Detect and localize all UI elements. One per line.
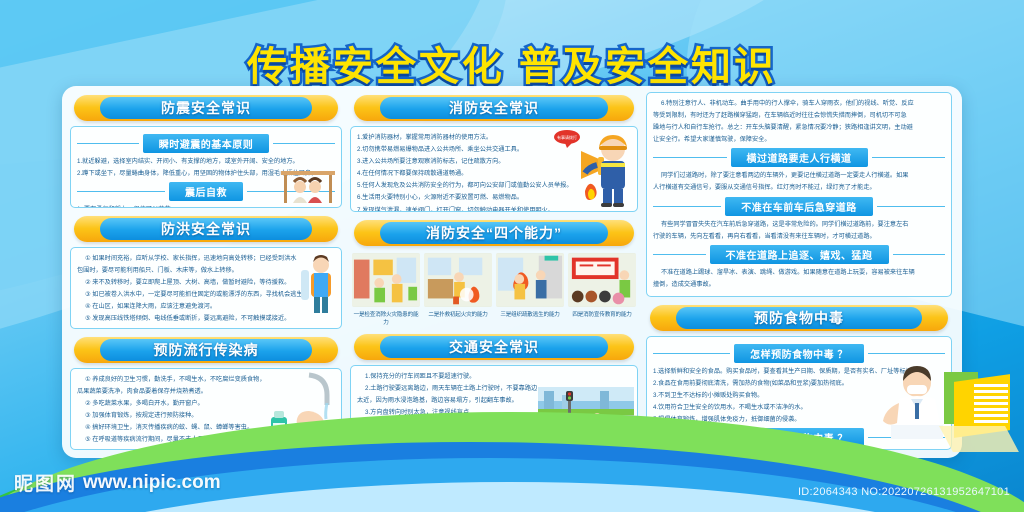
list-item: 同学们过道路时，除了要注意看两边的车辆外，更要记住横过道路一定要走人行横道。如果 xyxy=(653,170,945,182)
subheader-label: 不准在道路上追逐、嬉戏、猛跑 xyxy=(710,245,889,264)
ability-panel-4: 四是消防宣传教育的能力 xyxy=(568,253,636,326)
list-item: ④ 在山区，如果连降大雨，应该注意避免渡河。 xyxy=(77,301,335,313)
list-item: 2.切勿携带易燃易爆物品进入公共场所、乘坐公共交通工具。 xyxy=(357,144,631,156)
list-item: 不准在道路上踢球、溜旱冰、表演、跳绳、做游戏。如果随意在道路上玩耍，容易被来往车… xyxy=(653,267,945,279)
subheader-quake-principles: 瞬时避震的基本原则 xyxy=(77,134,335,153)
list-item: 2.食品在食用前要彻底清洗，需加热的食物(如菜品和豆浆)要加热彻底。 xyxy=(653,378,945,390)
section-header-four-abilities: 消防安全“四个能力” xyxy=(354,220,634,246)
subheader-use-crosswalk: 横过道路要走人行横道 xyxy=(653,148,945,167)
watermark: 昵图网 www.nipic.com xyxy=(14,469,221,496)
subheader-label: 怎样预防食物中毒 ？ xyxy=(734,344,864,363)
section-header-fire: 消防安全常识 xyxy=(354,95,634,121)
corner-decoration xyxy=(938,372,1016,454)
list-item: 人行横道有交通信号，要服从交通信号指挥。红灯亮时不能过，绿灯亮了才能走。 xyxy=(653,182,945,194)
card-quake: 瞬时避震的基本原则 1.就近躲避，选择室内结实、开间小、有支撑的地方，或室外开阔… xyxy=(70,126,342,208)
watermark-brand-cn: 昵图网 xyxy=(14,469,77,496)
subheader-label: 瞬时避震的基本原则 xyxy=(143,134,270,153)
list-item: 6.特别注意行人、非机动车。曲手用中的行人撑伞，骑车人穿雨衣，他们的视线、听觉、… xyxy=(653,98,945,110)
rule-line xyxy=(877,206,945,207)
list-item: 撞倒，造成交通事故。 xyxy=(653,279,945,291)
rule-line xyxy=(247,191,335,192)
subheader-label: 不准在车前车后急穿道路 xyxy=(725,197,873,216)
fire-list: 1.爱护消防器材，掌握常用消防器材的使用方法。 2.切勿携带易燃易爆物品进入公共… xyxy=(357,132,631,212)
list-item: ① 养成良好的卫生习惯，勤洗手，不喝生水，不吃腐烂变质食物， xyxy=(77,374,335,386)
corner-striped-shape xyxy=(974,384,1008,426)
list-item: 1.保持充分的行车间距且不要超速行驶。 xyxy=(357,371,631,383)
list-item: ① 如果时间充裕，应听从学校、家长指挥，迅速地向高处转移；已经受到洪水 xyxy=(77,253,335,265)
list-item: 4.在任何情况下都要保持疏散通道畅通。 xyxy=(357,168,631,180)
list-item: 6.生活用火要特别小心，火源附近不要放置可燃、易燃物品。 xyxy=(357,192,631,204)
section-header-quake: 防震安全常识 xyxy=(74,95,338,121)
subheader-label: 横过道路要走人行横道 xyxy=(731,148,868,167)
rule-line xyxy=(653,353,730,354)
list-item: 1.爱护消防器材，掌握常用消防器材的使用方法。 xyxy=(357,132,631,144)
section-title-traffic: 交通安全常识 xyxy=(449,337,539,357)
four-abilities-panels: 一是检查消除火灾隐患的能力 二是扑救初起火 xyxy=(350,251,638,326)
ability-caption: 三是组织疏散逃生的能力 xyxy=(496,310,564,318)
crosswalk-list: 同学们过道路时，除了要注意看两边的车辆外，更要记住横过道路一定要走人行横道。如果… xyxy=(653,170,945,194)
section-header-traffic: 交通安全常识 xyxy=(354,334,634,360)
rule-line xyxy=(893,254,946,255)
section-title-epidemic: 预防流行传染病 xyxy=(154,340,259,360)
subheader-quake-selfrescue: 震后自救 xyxy=(77,182,335,201)
list-item: 等受到限制，有时还为了赶路横穿猛跑，在车辆临近时往往会惊慌失措而摔倒，司机切不可… xyxy=(653,110,945,122)
section-title-flood: 防洪安全常识 xyxy=(161,219,251,239)
rule-line xyxy=(868,353,945,354)
section-title-food: 预防食物中毒 xyxy=(754,308,844,328)
watermark-url: www.nipic.com xyxy=(83,472,221,494)
list-item: 有些同学冒冒失失在汽车前后急穿道路，这是非常危险的。同学们横过道路前，要注意左右 xyxy=(653,219,945,231)
traffic-cont-intro: 6.特别注意行人、非机动车。曲手用中的行人撑伞，骑车人穿雨衣，他们的视线、听觉、… xyxy=(653,98,945,146)
list-item: 包围时，要尽可能利用船只、门板、木床等，做水上转移。 xyxy=(77,265,335,277)
subheader-no-play-on-road: 不准在道路上追逐、嬉戏、猛跑 xyxy=(653,245,945,264)
ability-panel-1: 一是检查消除火灾隐患的能力 xyxy=(352,253,420,326)
list-item: ③ 如已被卷入洪水中，一定要尽可能抓住固定的或能漂浮的东西，寻找机会逃生。 xyxy=(77,289,335,301)
list-item: 1.就近躲避，选择室内结实、开间小、有支撑的地方，或室外开阔、安全的地方。 xyxy=(77,156,335,168)
card-flood: ① 如果时间充裕，应听从学校、家长指挥，迅速地向高处转移；已经受到洪水 包围时，… xyxy=(70,247,342,329)
quake-principles-list: 1.就近躲避，选择室内结实、开间小、有支撑的地方，或室外开阔、安全的地方。 2.… xyxy=(77,156,335,180)
rule-line xyxy=(273,143,335,144)
subheader-label: 震后自救 xyxy=(169,182,243,201)
section-title-four-abilities: 消防安全“四个能力” xyxy=(426,223,562,243)
ability-panel-3: 三是组织疏散逃生的能力 xyxy=(496,253,564,326)
list-item: 7.发现煤气泄漏，速关阀门，打开门窗，切勿触动电器开关和使用明火。 xyxy=(357,205,631,212)
list-item: 1. 要有勇气和毅力，坚信可以获救。 xyxy=(77,204,335,208)
rule-line xyxy=(77,143,139,144)
page-title: 传播安全文化 普及安全知识 xyxy=(0,34,1024,92)
list-item: ② 来不及转移时，要立即爬上屋顶、大树、高墙，做暂时避险，等待援救。 xyxy=(77,277,335,289)
list-item: 3.进入公共场所要注意观察消防标志，记住疏散方向。 xyxy=(357,156,631,168)
card-traffic-continued: 6.特别注意行人、非机动车。曲手用中的行人撑伞，骑车人穿雨衣，他们的视线、听觉、… xyxy=(646,92,952,297)
list-item: 躁地与行人和自行车抢行。总之：开车头脑要清醒，紧急情况要冷静；狭路相逢讲文明，主… xyxy=(653,122,945,134)
rule-line xyxy=(653,206,721,207)
section-header-food: 预防食物中毒 xyxy=(650,305,948,331)
ability-image-inspect xyxy=(352,253,420,307)
ability-image-evacuate xyxy=(496,253,564,307)
list-item: ⑤ 发现高压线铁塔倾倒、电线低垂或断折，要远离避险，不可触摸或接近。 xyxy=(77,313,335,325)
subheader-prevent-food-poisoning: 怎样预防食物中毒 ？ xyxy=(653,344,945,363)
list-item: 行驶的车辆，先向左看看，再向右看看，当看清没有来往车辆时，才可横过道路。 xyxy=(653,231,945,243)
list-item: 5.任何人发现危及公共消防安全的行为，都可向公安部门或值勤公安人员举报。 xyxy=(357,180,631,192)
rule-line xyxy=(653,157,727,158)
list-item: 2.蹲下或坐下，尽量蜷曲身体，降低重心，用坚固的物体护住头部，用湿毛巾捂住口鼻。 xyxy=(77,168,335,180)
rule-line xyxy=(77,191,165,192)
corner-light-shape xyxy=(939,426,1019,452)
quake-selfrescue-list: 1. 要有勇气和毅力，坚信可以获救。 2. 要注意观察周围环境，寻找通道，设法爬… xyxy=(77,204,335,208)
ability-caption: 四是消防宣传教育的能力 xyxy=(568,310,636,318)
ability-caption: 二是扑救初起火灾的能力 xyxy=(424,310,492,318)
section-header-flood: 防洪安全常识 xyxy=(74,216,338,242)
no-dash-list: 有些同学冒冒失失在汽车前后急穿道路，这是非常危险的。同学们横过道路前，要注意左右… xyxy=(653,219,945,243)
section-title-fire: 消防安全常识 xyxy=(449,98,539,118)
section-title-quake: 防震安全常识 xyxy=(161,98,251,118)
no-play-list: 不准在道路上踢球、溜旱冰、表演、跳绳、做游戏。如果随意在道路上玩耍，容易被来往车… xyxy=(653,267,945,291)
section-header-epidemic: 预防流行传染病 xyxy=(74,337,338,363)
flood-list: ① 如果时间充裕，应听从学校、家长指挥，迅速地向高处转移；已经受到洪水 包围时，… xyxy=(77,253,335,326)
ability-caption: 一是检查消除火灾隐患的能力 xyxy=(352,310,420,326)
ability-image-education xyxy=(568,253,636,307)
ability-image-extinguish xyxy=(424,253,492,307)
card-fire: 1.爱护消防器材，掌握常用消防器材的使用方法。 2.切勿携带易燃易爆物品进入公共… xyxy=(350,126,638,212)
id-tag: ID:2064343 NO:20220726131952647101 xyxy=(798,486,1010,498)
ability-panel-2: 二是扑救初起火灾的能力 xyxy=(424,253,492,326)
list-item: 1.选择新鲜和安全的食品。购买食品时，要查看其生产日期、保质期，是否有实名、厂址… xyxy=(653,366,945,378)
list-item: 让安全行。希望大家谨慎驾驶，保障安全。 xyxy=(653,134,945,146)
rule-line xyxy=(653,254,706,255)
rule-line xyxy=(872,157,946,158)
subheader-no-dash-around-vehicles: 不准在车前车后急穿道路 xyxy=(653,197,945,216)
